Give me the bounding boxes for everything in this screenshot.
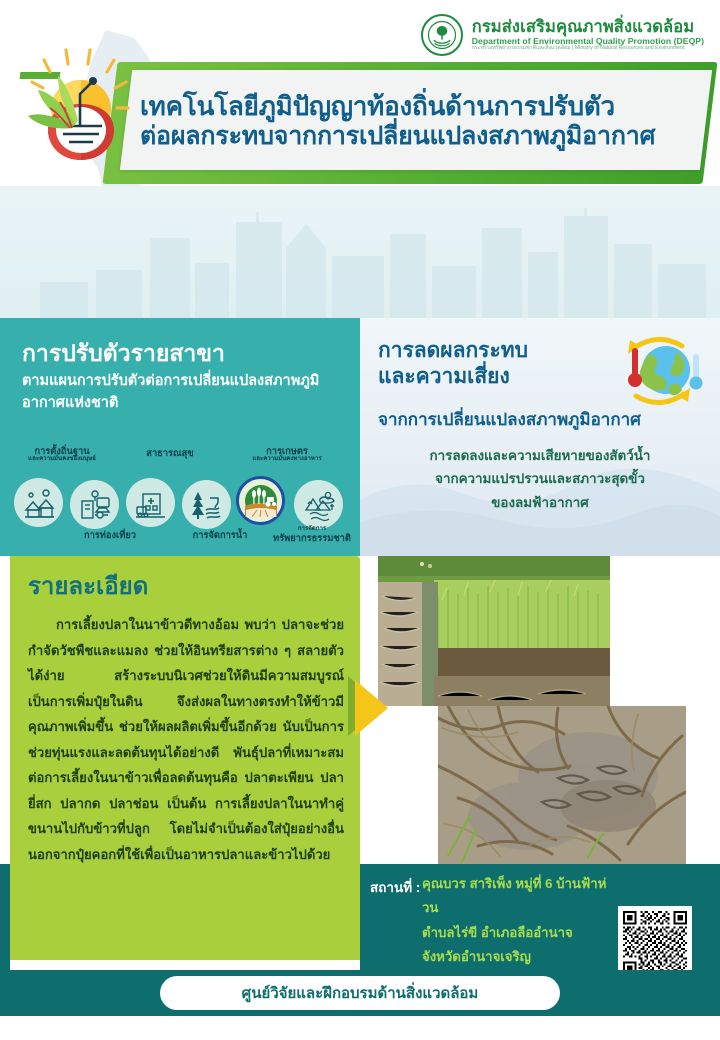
sector-label-natural-resources: การจัดการ ทรัพยากรธรรมชาติ: [262, 526, 362, 543]
title-line-1: เทคโนโลยีภูมิปัญญาท้องถิ่นด้านการปรับตัว: [140, 92, 696, 121]
footer-organization-label: ศูนย์วิจัยและฝึกอบรมด้านสิ่งแวดล้อม: [242, 981, 479, 1005]
location-address: คุณบวร สาริเพ็ง หมู่ที่ 6 บ้านฟ้าห่วน ตำ…: [422, 872, 612, 970]
right-body-line-2: จากความแปรปรวนและสภาวะสุดขั้ว: [370, 467, 710, 490]
footer-organization-pill: ศูนย์วิจัยและฝึกอบรมด้านสิ่งแวดล้อม: [160, 976, 560, 1010]
technology-name-band: ชื่อเทคโนโลยี : “เลี้ยงปลา” ในนาข้าว: [0, 186, 720, 318]
bottom-white-strip: [0, 1016, 720, 1040]
details-body: การเลี้ยงปลาในนาข้าวดีทางอ้อม พบว่า ปลาจ…: [28, 612, 344, 867]
sector-icon-tourism[interactable]: [70, 480, 119, 529]
sector-label-agriculture: การเกษตร และความมั่นคงทางอาหาร: [234, 446, 340, 463]
city-skyline-decoration: [0, 208, 720, 318]
arrow-right-icon: [355, 680, 388, 736]
sector-label-water-management: การจัดการน้ำ: [172, 530, 268, 540]
left-panel-subheading: ตามแผนการปรับตัวต่อการเปลี่ยนแปลงสภาพภูม…: [22, 370, 342, 415]
lightbulb-leaf-map-pin-icon: [14, 42, 149, 200]
deqp-seal-icon: [421, 14, 463, 56]
sector-icon-public-health[interactable]: [126, 478, 175, 527]
sector-icon-natural-resources[interactable]: [294, 480, 343, 529]
location-band: สถานที่ : คุณบวร สาริเพ็ง หมู่ที่ 6 บ้าน…: [360, 864, 720, 970]
header-band: กรมส่งเสริมคุณภาพสิ่งแวดล้อม Department …: [0, 0, 720, 200]
sector-icon-settlement[interactable]: [14, 478, 63, 527]
location-line-3: จังหวัดอำนาจเจริญ: [422, 945, 612, 969]
right-body-line-1: การลดลงและความเสียหายของสัตว์น้ำ: [370, 444, 710, 467]
sector-label-public-health: สาธารณสุข: [124, 448, 216, 458]
details-panel: รายละเอียด การเลี้ยงปลาในนาข้าวดีทางอ้อม…: [10, 556, 360, 960]
right-panel-subheading: จากการเปลี่ยนแปลงสภาพภูมิอากาศ: [378, 406, 641, 433]
left-panel-heading: การปรับตัวรายสาขา: [22, 336, 225, 372]
photo-fish-in-paddy: [438, 706, 686, 864]
sector-label-settlement: การตั้งถิ่นฐาน และความมั่นคงของมนุษย์: [10, 446, 114, 463]
right-heading-line-1: การลดผลกระทบ: [378, 338, 528, 364]
sector-icon-water-management[interactable]: [182, 480, 231, 529]
org-name-th: กรมส่งเสริมคุณภาพสิ่งแวดล้อม: [472, 18, 704, 36]
page-title: เทคโนโลยีภูมิปัญญาท้องถิ่นด้านการปรับตัว…: [140, 78, 696, 164]
right-heading-line-2: และความเสี่ยง: [378, 364, 528, 390]
qr-code[interactable]: [618, 906, 692, 980]
deqp-logo: กรมส่งเสริมคุณภาพสิ่งแวดล้อม Department …: [421, 14, 704, 56]
mitigation-risk-panel: การลดผลกระทบ และความเสี่ยง จากการเปลี่ยน…: [360, 318, 720, 556]
sector-label-tourism: การท่องเที่ยว: [62, 530, 158, 540]
location-line-1: คุณบวร สาริเพ็ง หมู่ที่ 6 บ้านฟ้าห่วน: [422, 872, 612, 921]
right-body-line-3: ของลมฟ้าอากาศ: [370, 491, 710, 514]
title-line-2: ต่อผลกระทบจากการเปลี่ยนแปลงสภาพภูมิอากาศ: [140, 122, 696, 150]
left-teal-strip: [0, 864, 10, 970]
details-heading: รายละเอียด: [28, 566, 148, 605]
location-label: สถานที่ :: [370, 876, 420, 898]
sector-icon-row: การตั้งถิ่นฐาน และความมั่นคงของมนุษย์ สา…: [6, 454, 358, 552]
adaptation-sectors-panel: การปรับตัวรายสาขา ตามแผนการปรับตัวต่อการ…: [0, 318, 360, 556]
photo-rice-paddy: [378, 556, 610, 706]
sector-icon-agriculture[interactable]: [236, 476, 285, 525]
globe-thermometer-icon: [614, 332, 706, 412]
location-line-2: ตำบลไร่ขี อำเภอลืออำนาจ: [422, 921, 612, 945]
org-ministry: กระทรวงทรัพยากรธรรมชาติและสิ่งแวดล้อม | …: [472, 46, 704, 52]
poster-root: กรมส่งเสริมคุณภาพสิ่งแวดล้อม Department …: [0, 0, 720, 1040]
right-panel-heading: การลดผลกระทบ และความเสี่ยง: [378, 338, 528, 389]
right-panel-body: การลดลงและความเสียหายของสัตว์น้ำ จากความ…: [370, 444, 710, 514]
